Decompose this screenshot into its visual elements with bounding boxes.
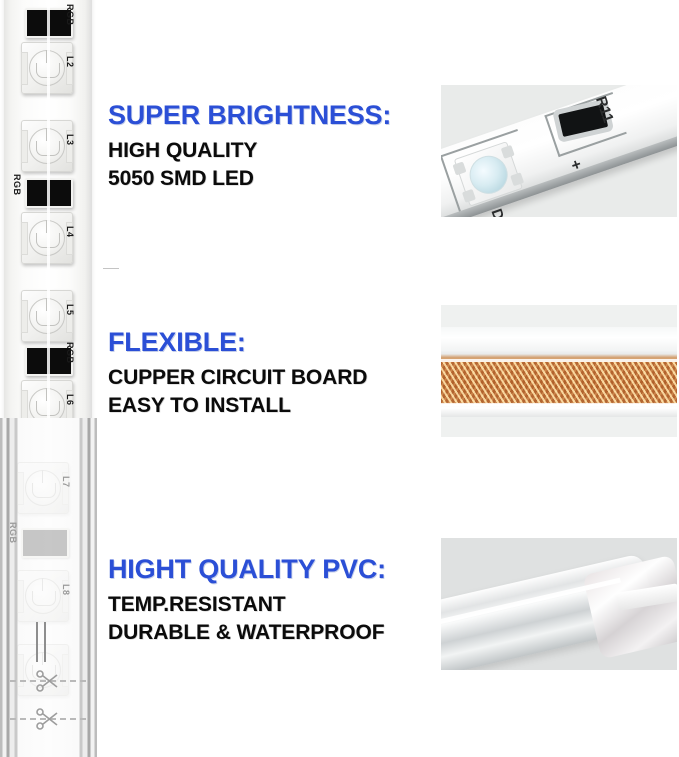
pvc-sleeve-lower: L7 RGB L8 bbox=[0, 418, 97, 757]
led-pad-left bbox=[21, 52, 28, 85]
feature-subline-1: TEMP.RESISTANT bbox=[108, 592, 438, 618]
strip-label-L6: L6 bbox=[65, 394, 75, 406]
photo-copper-braid bbox=[441, 305, 677, 437]
scissors-icon bbox=[35, 706, 61, 732]
copper-braid-photo bbox=[441, 362, 677, 404]
feature-headline: HIGHT QUALITY PVC: bbox=[108, 555, 438, 583]
feature-subline-2: 5050 SMD LED bbox=[108, 166, 438, 192]
strip-label-rgb-2: RGB bbox=[12, 174, 22, 196]
strip-label-L4: L4 bbox=[65, 226, 75, 238]
strip-led-L4 bbox=[21, 212, 73, 264]
feature-subline-1: HIGH QUALITY bbox=[108, 138, 438, 164]
strip-led-L5 bbox=[21, 290, 73, 342]
cut-marker-2 bbox=[10, 706, 86, 732]
strip-led-L8 bbox=[17, 570, 69, 622]
led-lens bbox=[29, 220, 65, 256]
feature-block-flexible: FLEXIBLE: CUPPER CIRCUIT BOARD EASY TO I… bbox=[108, 328, 438, 419]
photo-pvc-sleeve-end bbox=[441, 538, 677, 670]
tube-highlight-bottom bbox=[441, 403, 677, 406]
feature-headline: FLEXIBLE: bbox=[108, 328, 438, 356]
section-divider-tick bbox=[103, 268, 119, 269]
strip-label-L5: L5 bbox=[65, 304, 75, 316]
led-lens bbox=[25, 578, 61, 614]
strip-resistor-2 bbox=[25, 178, 73, 208]
strip-label-L7: L7 bbox=[61, 476, 71, 488]
strip-led-L2 bbox=[21, 42, 73, 94]
solder-leads bbox=[36, 622, 50, 662]
led-pad-left bbox=[17, 580, 24, 613]
feature-block-pvc: HIGHT QUALITY PVC: TEMP.RESISTANT DURABL… bbox=[108, 555, 438, 646]
led-strip-column: RGB L2 L3 RGB L4 L5 RGB bbox=[0, 0, 100, 757]
strip-resistor-4 bbox=[21, 528, 69, 558]
led-pad-left bbox=[21, 222, 28, 255]
cut-marker-1 bbox=[10, 668, 86, 694]
strip-label-L3: L3 bbox=[65, 134, 75, 146]
led-pad-left bbox=[17, 472, 24, 505]
feature-block-brightness: SUPER BRIGHTNESS: HIGH QUALITY 5050 SMD … bbox=[108, 101, 438, 192]
led-lens bbox=[29, 128, 65, 164]
scissors-icon bbox=[35, 668, 61, 694]
strip-label-rgb-3: RGB bbox=[65, 342, 75, 364]
tube-highlight-top bbox=[441, 359, 677, 362]
strip-label-L2: L2 bbox=[65, 56, 75, 68]
feature-subline-2: EASY TO INSTALL bbox=[108, 393, 438, 419]
strip-led-L7 bbox=[17, 462, 69, 514]
led-pad-left bbox=[21, 130, 28, 163]
led-lens bbox=[29, 298, 65, 334]
strip-led-L3 bbox=[21, 120, 73, 172]
strip-label-rgb-4: RGB bbox=[8, 522, 18, 544]
feature-headline: SUPER BRIGHTNESS: bbox=[108, 101, 438, 129]
led-pad-left bbox=[21, 300, 28, 333]
strip-label-rgb-1: RGB bbox=[65, 4, 75, 26]
led-lens bbox=[29, 50, 65, 86]
pcb-board-photo bbox=[441, 85, 677, 217]
photo-led-closeup: R11 D2 + bbox=[441, 85, 677, 217]
feature-subline-1: CUPPER CIRCUIT BOARD bbox=[108, 365, 438, 391]
feature-subline-2: DURABLE & WATERPROOF bbox=[108, 620, 438, 646]
led-lens bbox=[25, 470, 61, 506]
lead-wire-left bbox=[36, 622, 38, 662]
pcb-strip-upper: RGB L2 L3 RGB L4 L5 RGB bbox=[4, 0, 92, 426]
lead-wire-right bbox=[44, 622, 46, 662]
strip-label-L8: L8 bbox=[61, 584, 71, 596]
